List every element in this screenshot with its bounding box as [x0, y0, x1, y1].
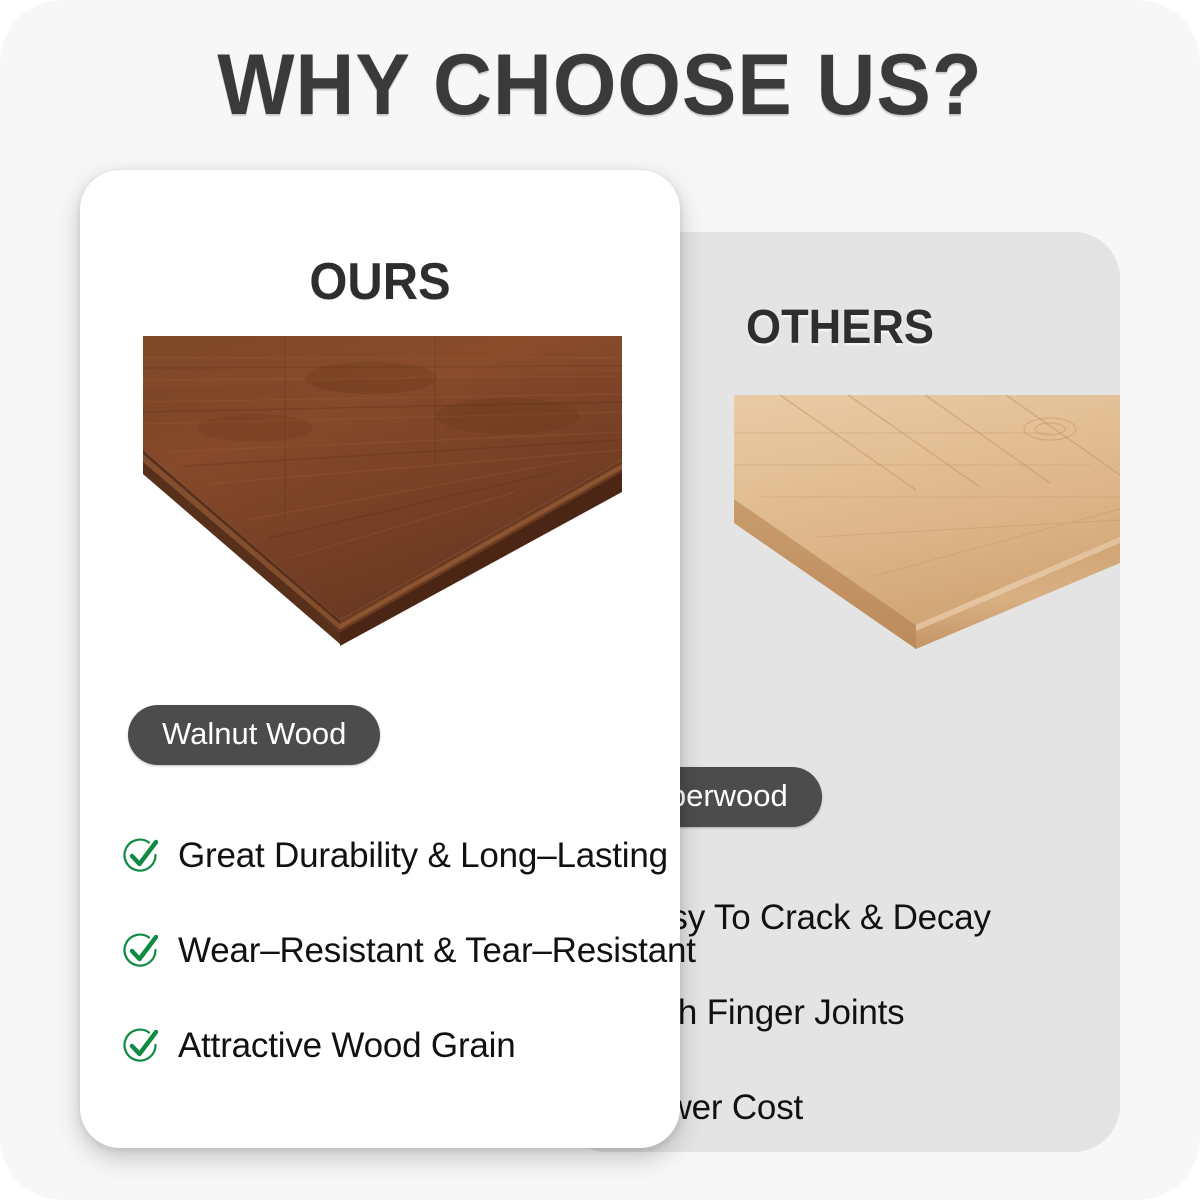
- ours-comparison-card: OURS: [80, 170, 680, 1148]
- ours-material-badge: Walnut Wood: [128, 705, 380, 765]
- check-circle-icon: [120, 835, 162, 877]
- list-item-label: Great Durability & Long–Lasting: [178, 836, 668, 876]
- check-circle-icon: [120, 1025, 162, 1067]
- ours-heading: OURS: [98, 252, 662, 312]
- check-circle-icon: [120, 930, 162, 972]
- ours-feature-list: Great Durability & Long–Lasting Wear–Res…: [120, 808, 680, 1093]
- infographic-canvas: WHY CHOOSE US? OTHERS: [0, 0, 1200, 1200]
- walnut-wood-image: [135, 332, 630, 652]
- list-item-label: Attractive Wood Grain: [178, 1026, 516, 1066]
- list-item-label: Wear–Resistant & Tear–Resistant: [178, 931, 696, 971]
- page-title: WHY CHOOSE US?: [30, 36, 1170, 135]
- list-item: Wear–Resistant & Tear–Resistant: [120, 903, 680, 998]
- list-item: Great Durability & Long–Lasting: [120, 808, 680, 903]
- rubberwood-image: [720, 387, 1120, 662]
- list-item: Attractive Wood Grain: [120, 998, 680, 1093]
